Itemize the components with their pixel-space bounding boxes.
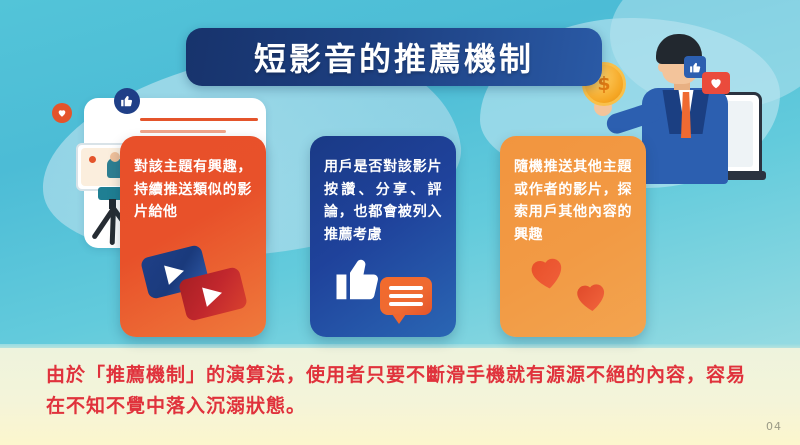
- slide-canvas: $ 短影音的推薦機制 對該主題有興趣，持續推送類似的影片給他 用戶是否對該影片按…: [0, 0, 800, 445]
- heart-badge-icon: [52, 103, 72, 123]
- title-banner: 短影音的推薦機制: [186, 28, 602, 86]
- card-engagement-art: [310, 245, 456, 337]
- page-title: 短影音的推薦機制: [254, 34, 534, 80]
- bubble-line: [389, 302, 423, 306]
- white-card-line-1: [140, 118, 258, 121]
- card-exploration[interactable]: 隨機推送其他主題或作者的影片，探索用戶其他內容的興趣: [500, 136, 646, 337]
- social-heart-icon: [702, 72, 730, 94]
- thumbs-up-icon: [332, 251, 386, 307]
- phone-screen-person-head: [110, 152, 120, 162]
- card-exploration-art: [500, 245, 646, 337]
- white-card-line-2: [140, 130, 226, 133]
- heart-icon: [523, 248, 572, 297]
- slide-caption: 由於「推薦機制」的演算法，使用者只要不斷滑手機就有源源不絕的內容，容易在不知不覺…: [46, 360, 762, 422]
- card-interest[interactable]: 對該主題有興趣，持續推送類似的影片給他: [120, 136, 266, 337]
- card-exploration-text: 隨機推送其他主題或作者的影片，探索用戶其他內容的興趣: [514, 156, 632, 247]
- heart-icon: [570, 275, 612, 317]
- card-engagement-text: 用戶是否對該影片按讚、分享、評論，也都會被列入推薦考慮: [324, 156, 442, 247]
- card-engagement[interactable]: 用戶是否對該影片按讚、分享、評論，也都會被列入推薦考慮: [310, 136, 456, 337]
- bubble-line: [389, 286, 423, 290]
- play-triangle: [202, 283, 224, 307]
- bubble-line: [389, 294, 423, 298]
- card-interest-art: [120, 245, 266, 337]
- thumbs-up-badge-icon: [114, 88, 140, 114]
- comment-bubble-icon: [380, 277, 432, 315]
- card-interest-text: 對該主題有興趣，持續推送類似的影片給他: [134, 156, 252, 224]
- phone-screen-dot-1: [89, 156, 96, 163]
- page-number: 04: [766, 420, 782, 433]
